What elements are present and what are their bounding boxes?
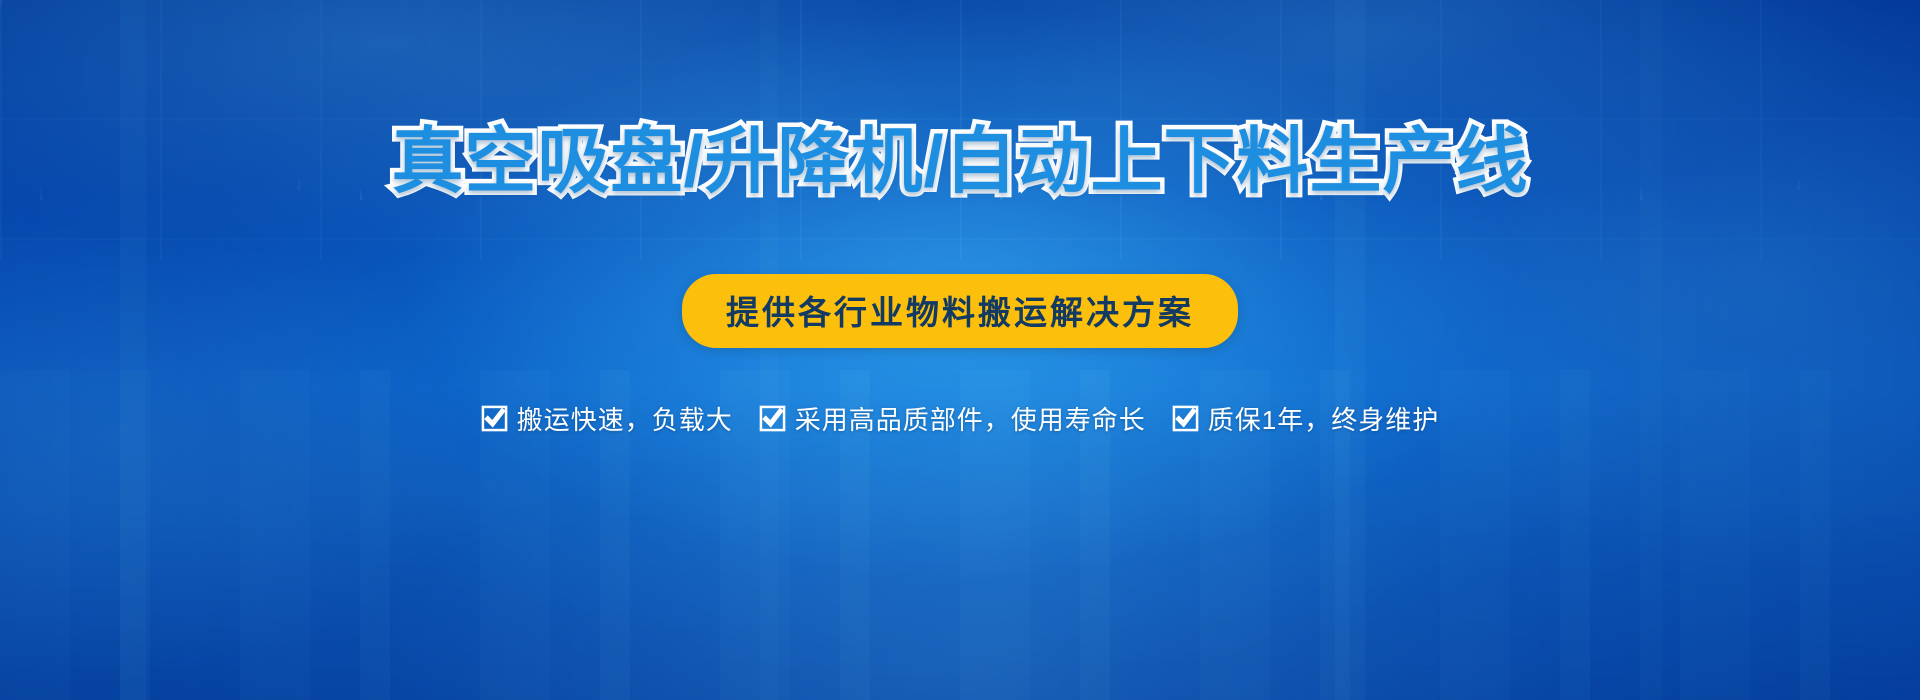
feature-list: 搬运快速，负载大 采用高品质部件，使用寿命长 质保1年，终身维护 [481,400,1440,437]
check-square-icon [1172,405,1199,432]
feature-item: 采用高品质部件，使用寿命长 [759,400,1146,437]
feature-label: 采用高品质部件，使用寿命长 [795,400,1146,437]
feature-label: 搬运快速，负载大 [517,400,733,437]
banner-title: 真空吸盘/升降机/自动上下料生产线 [391,126,1528,198]
feature-item: 质保1年，终身维护 [1172,400,1439,437]
feature-item: 搬运快速，负载大 [481,400,733,437]
banner-content: 真空吸盘/升降机/自动上下料生产线 提供各行业物料搬运解决方案 搬运快速，负载大… [0,0,1920,700]
check-square-icon [481,405,508,432]
check-square-icon [759,405,786,432]
feature-label: 质保1年，终身维护 [1208,400,1439,437]
banner-subtitle-pill: 提供各行业物料搬运解决方案 [682,274,1238,348]
promo-banner: 真空吸盘/升降机/自动上下料生产线 提供各行业物料搬运解决方案 搬运快速，负载大… [0,0,1920,700]
